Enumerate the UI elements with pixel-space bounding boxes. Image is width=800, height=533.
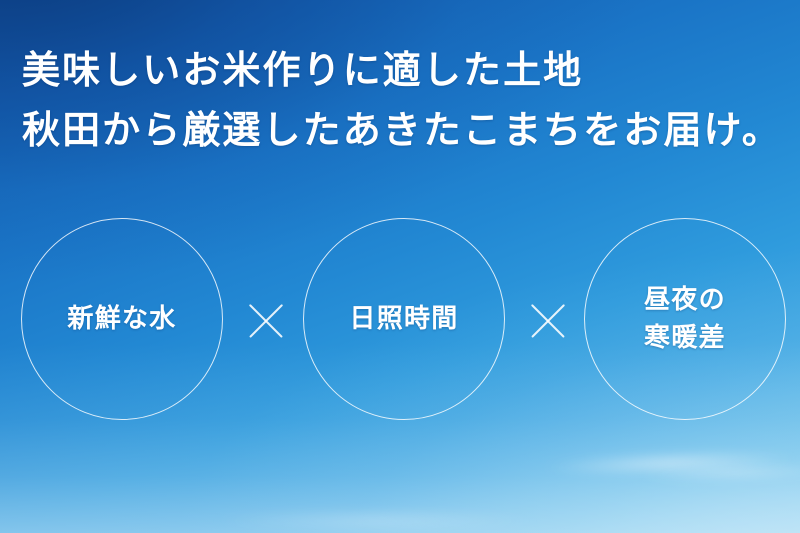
feature-circle-label: 日照時間 xyxy=(343,300,464,338)
feature-label-line-1: 昼夜の xyxy=(644,285,726,315)
headline-line-2: 秋田から厳選したあきたこまちをお届け。 xyxy=(22,100,792,160)
feature-label-line-2: 寒暖差 xyxy=(644,319,726,357)
feature-circle-label: 昼夜の 寒暖差 xyxy=(638,281,732,357)
multiply-icon xyxy=(525,297,571,343)
feature-circle-sunlight-hours: 日照時間 xyxy=(303,218,505,420)
cloud-wisp-icon xyxy=(210,512,540,530)
headline: 美味しいお米作りに適した土地 秋田から厳選したあきたこまちをお届け。 xyxy=(22,40,792,160)
feature-circle-row: 新鮮な水 日照時間 昼夜の 寒暖差 xyxy=(0,218,800,422)
feature-circle-label: 新鮮な水 xyxy=(61,300,182,338)
promo-banner: 美味しいお米作りに適した土地 秋田から厳選したあきたこまちをお届け。 新鮮な水 … xyxy=(0,0,800,533)
feature-circle-day-night-temperature-range: 昼夜の 寒暖差 xyxy=(584,218,786,420)
feature-label-line-1: 新鮮な水 xyxy=(67,304,176,334)
headline-line-1: 美味しいお米作りに適した土地 xyxy=(22,40,792,100)
feature-label-line-1: 日照時間 xyxy=(349,304,458,334)
multiply-icon xyxy=(243,297,289,343)
feature-circle-fresh-water: 新鮮な水 xyxy=(21,218,223,420)
